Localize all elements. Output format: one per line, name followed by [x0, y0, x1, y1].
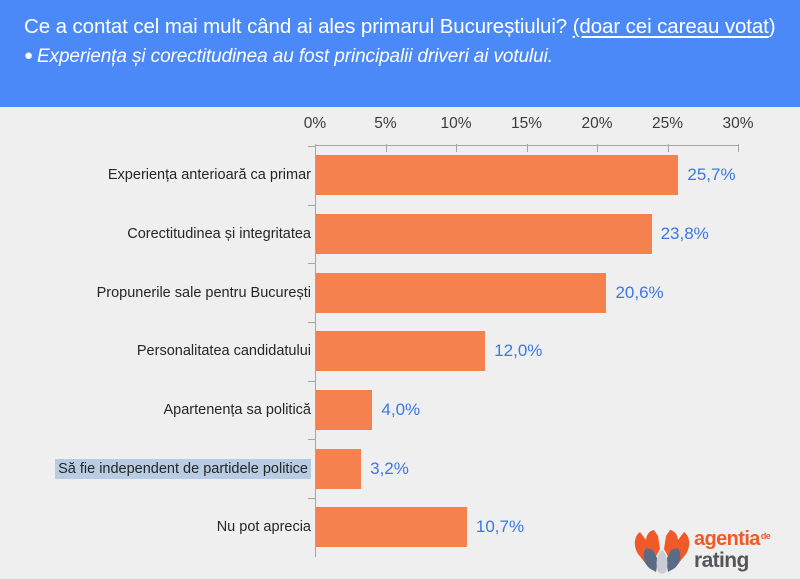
slide-header: Ce a contat cel mai mult când ai ales pr…	[0, 0, 800, 107]
category-label[interactable]: Personalitatea candidatului	[137, 343, 311, 359]
category-label[interactable]: Apartenența sa politică	[163, 402, 311, 418]
bullet-dot-icon: ●	[24, 47, 33, 64]
bar-value-label: 10,7%	[476, 517, 524, 537]
x-axis-tick-label: 10%	[440, 115, 471, 133]
y-axis-tick-mark	[308, 146, 316, 147]
category-label[interactable]: Să fie independent de partidele politice	[55, 459, 311, 479]
page-title-link-close: )	[769, 15, 776, 38]
chart-bar[interactable]	[316, 331, 485, 371]
page-title-question: Ce a contat cel mai mult când ai ales pr…	[24, 15, 573, 38]
bar-value-label: 25,7%	[687, 165, 735, 185]
chart-bar-row[interactable]: Apartenența sa politică4,0%	[0, 381, 800, 440]
x-axis-tick-label: 20%	[581, 115, 612, 133]
bar-value-label: 4,0%	[381, 400, 420, 420]
x-axis-tick-label: 15%	[511, 115, 542, 133]
flower-logo-icon	[632, 528, 692, 574]
chart-bar[interactable]	[316, 155, 678, 195]
bar-rows: Experiența anterioară ca primar25,7%Core…	[0, 146, 800, 557]
logo-word-agentia: agentia	[694, 528, 760, 550]
chart-bar[interactable]	[316, 507, 467, 547]
chart-bar-row[interactable]: Experiența anterioară ca primar25,7%	[0, 146, 800, 205]
chart-bar-row[interactable]: Personalitatea candidatului12,0%	[0, 322, 800, 381]
x-axis-tick-label: 25%	[652, 115, 683, 133]
x-axis-tick-label: 0%	[304, 115, 326, 133]
header-bullet-line: ●Experiența și corectitudinea au fost pr…	[24, 44, 778, 69]
x-axis-tick-label: 30%	[722, 115, 753, 133]
page-title: Ce a contat cel mai mult când ai ales pr…	[24, 13, 778, 40]
category-label[interactable]: Propunerile sale pentru București	[97, 285, 311, 301]
slide-canvas: Ce a contat cel mai mult când ai ales pr…	[0, 0, 800, 579]
chart-bar-row[interactable]: Să fie independent de partidele politice…	[0, 439, 800, 498]
logo-wordmark: agentiade rating	[694, 529, 770, 571]
y-axis-tick-mark	[308, 439, 316, 440]
x-axis-tick-labels: 0%5%10%15%20%25%30%	[0, 115, 800, 137]
page-title-link-line1[interactable]: (doar cei care	[573, 15, 697, 38]
header-bullet-text: Experiența și corectitudinea au fost pri…	[37, 46, 553, 67]
logo-line-1: agentiade	[694, 529, 770, 549]
brand-logo: agentiade rating	[632, 526, 792, 576]
y-axis-tick-mark	[308, 205, 316, 206]
logo-superscript-de: de	[761, 531, 770, 541]
chart-bar[interactable]	[316, 390, 372, 430]
chart-bar-row[interactable]: Corectitudinea și integritatea23,8%	[0, 205, 800, 264]
chart-bar[interactable]	[316, 449, 361, 489]
bar-value-label: 12,0%	[494, 341, 542, 361]
y-axis-tick-mark	[308, 263, 316, 264]
bar-value-label: 20,6%	[615, 283, 663, 303]
chart-bar-row[interactable]: Propunerile sale pentru București20,6%	[0, 263, 800, 322]
category-label[interactable]: Experiența anterioară ca primar	[108, 167, 311, 183]
bar-value-label: 23,8%	[661, 224, 709, 244]
y-axis-tick-mark	[308, 498, 316, 499]
category-label[interactable]: Nu pot aprecia	[217, 519, 311, 535]
page-title-link-line2[interactable]: au votat	[697, 15, 769, 38]
x-axis-tick-label: 5%	[374, 115, 396, 133]
category-label[interactable]: Corectitudinea și integritatea	[127, 226, 311, 242]
y-axis-tick-mark	[308, 322, 316, 323]
logo-line-2: rating	[694, 550, 770, 571]
bar-value-label: 3,2%	[370, 459, 409, 479]
y-axis-tick-mark	[308, 381, 316, 382]
chart-bar[interactable]	[316, 273, 606, 313]
chart-plot-area: 0%5%10%15%20%25%30% Experiența anterioar…	[0, 107, 800, 579]
chart-bar[interactable]	[316, 214, 652, 254]
